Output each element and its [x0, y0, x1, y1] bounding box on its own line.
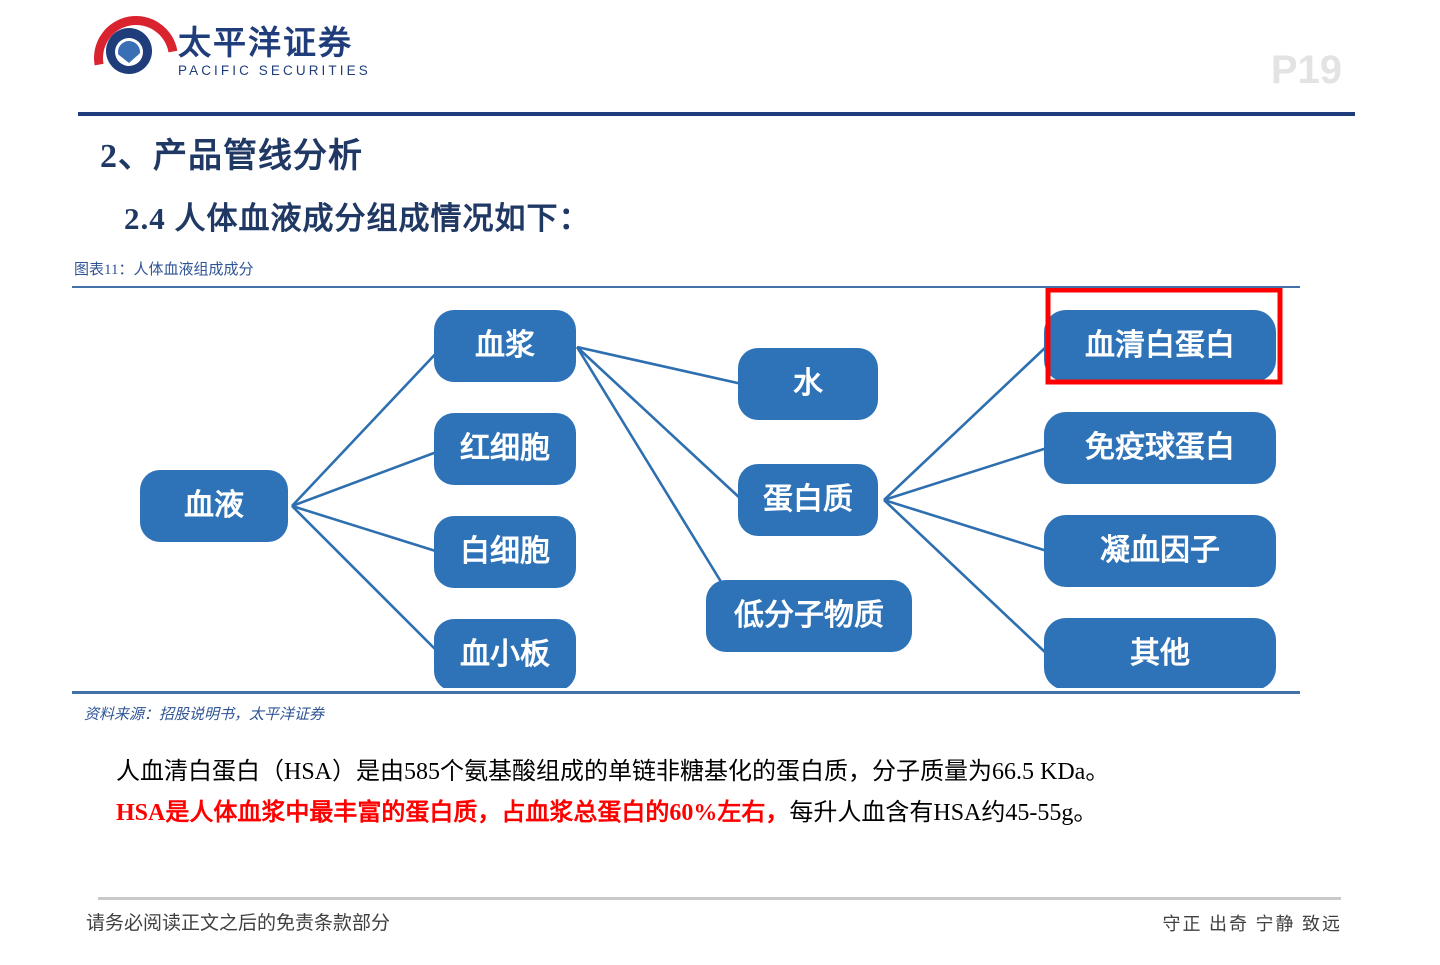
node-water-label: 水 — [793, 367, 824, 400]
node-immunoglobulin-label: 免疫球蛋白 — [1085, 430, 1235, 464]
exhibit-caption: 图表11：人体血液组成成分 — [74, 258, 253, 279]
diagram-edges — [292, 346, 1047, 656]
node-protein-label: 蛋白质 — [763, 483, 853, 516]
node-coagulation-factor-label: 凝血因子 — [1100, 534, 1220, 567]
header-divider — [78, 112, 1355, 116]
node-red-blood-cell: 红细胞 — [434, 413, 576, 485]
page-number: P19 — [1271, 48, 1342, 93]
node-protein: 蛋白质 — [738, 464, 878, 536]
node-red-blood-cell-label: 红细胞 — [460, 432, 550, 465]
company-logo: 太平洋证券 PACIFIC SECURITIES — [92, 14, 371, 88]
page-header: 太平洋证券 PACIFIC SECURITIES P19 — [0, 0, 1440, 112]
footer-slogan: 守正 出奇 宁静 致远 — [1163, 910, 1343, 936]
node-platelet: 血小板 — [434, 619, 576, 688]
blood-composition-diagram: 血液 血浆 红细胞 白细胞 血小板 水 蛋白质 低分子 — [72, 288, 1312, 688]
pacific-securities-logo-icon — [92, 14, 166, 88]
node-blood: 血液 — [140, 470, 288, 542]
footer-divider — [98, 897, 1341, 900]
node-immunoglobulin: 免疫球蛋白 — [1044, 412, 1276, 484]
node-plasma-label: 血浆 — [475, 328, 535, 362]
node-water: 水 — [738, 348, 878, 420]
subsection-title: 2.4 人体血液成分组成情况如下： — [124, 193, 591, 238]
node-other: 其他 — [1044, 618, 1276, 688]
node-serum-albumin-label: 血清白蛋白 — [1085, 329, 1235, 362]
node-low-molecular-substance: 低分子物质 — [706, 580, 912, 652]
node-other-label: 其他 — [1130, 637, 1190, 670]
logo-chinese-name: 太平洋证券 — [178, 24, 371, 62]
node-blood-label: 血液 — [184, 489, 244, 522]
exhibit-bottom-divider — [72, 691, 1300, 694]
body-line-1: 人血清白蛋白（HSA）是由585个氨基酸组成的单链非糖基化的蛋白质，分子质量为6… — [116, 752, 1326, 793]
node-platelet-label: 血小板 — [460, 638, 550, 671]
node-coagulation-factor: 凝血因子 — [1044, 515, 1276, 587]
section-title: 2、产品管线分析 — [100, 128, 363, 177]
node-white-blood-cell: 白细胞 — [434, 516, 576, 588]
footer-disclaimer: 请务必阅读正文之后的免责条款部分 — [86, 908, 390, 935]
node-serum-albumin: 血清白蛋白 — [1044, 310, 1276, 382]
body-paragraph: 人血清白蛋白（HSA）是由585个氨基酸组成的单链非糖基化的蛋白质，分子质量为6… — [116, 752, 1326, 834]
node-low-molecular-substance-label: 低分子物质 — [733, 599, 884, 632]
exhibit-source: 资料来源：招股说明书，太平洋证券 — [84, 703, 324, 724]
body-line-2-rest: 每升人血含有HSA约45-55g。 — [789, 800, 1097, 826]
node-white-blood-cell-label: 白细胞 — [460, 535, 550, 568]
logo-wordmark: 太平洋证券 PACIFIC SECURITIES — [178, 24, 371, 79]
diagram-svg: 血液 血浆 红细胞 白细胞 血小板 水 蛋白质 低分子 — [72, 288, 1312, 688]
logo-english-name: PACIFIC SECURITIES — [178, 63, 371, 78]
body-line-2-highlight: HSA是人体血浆中最丰富的蛋白质，占血浆总蛋白的60%左右， — [116, 800, 789, 826]
body-line-2: HSA是人体血浆中最丰富的蛋白质，占血浆总蛋白的60%左右，每升人血含有HSA约… — [116, 793, 1326, 834]
node-plasma: 血浆 — [434, 310, 576, 382]
